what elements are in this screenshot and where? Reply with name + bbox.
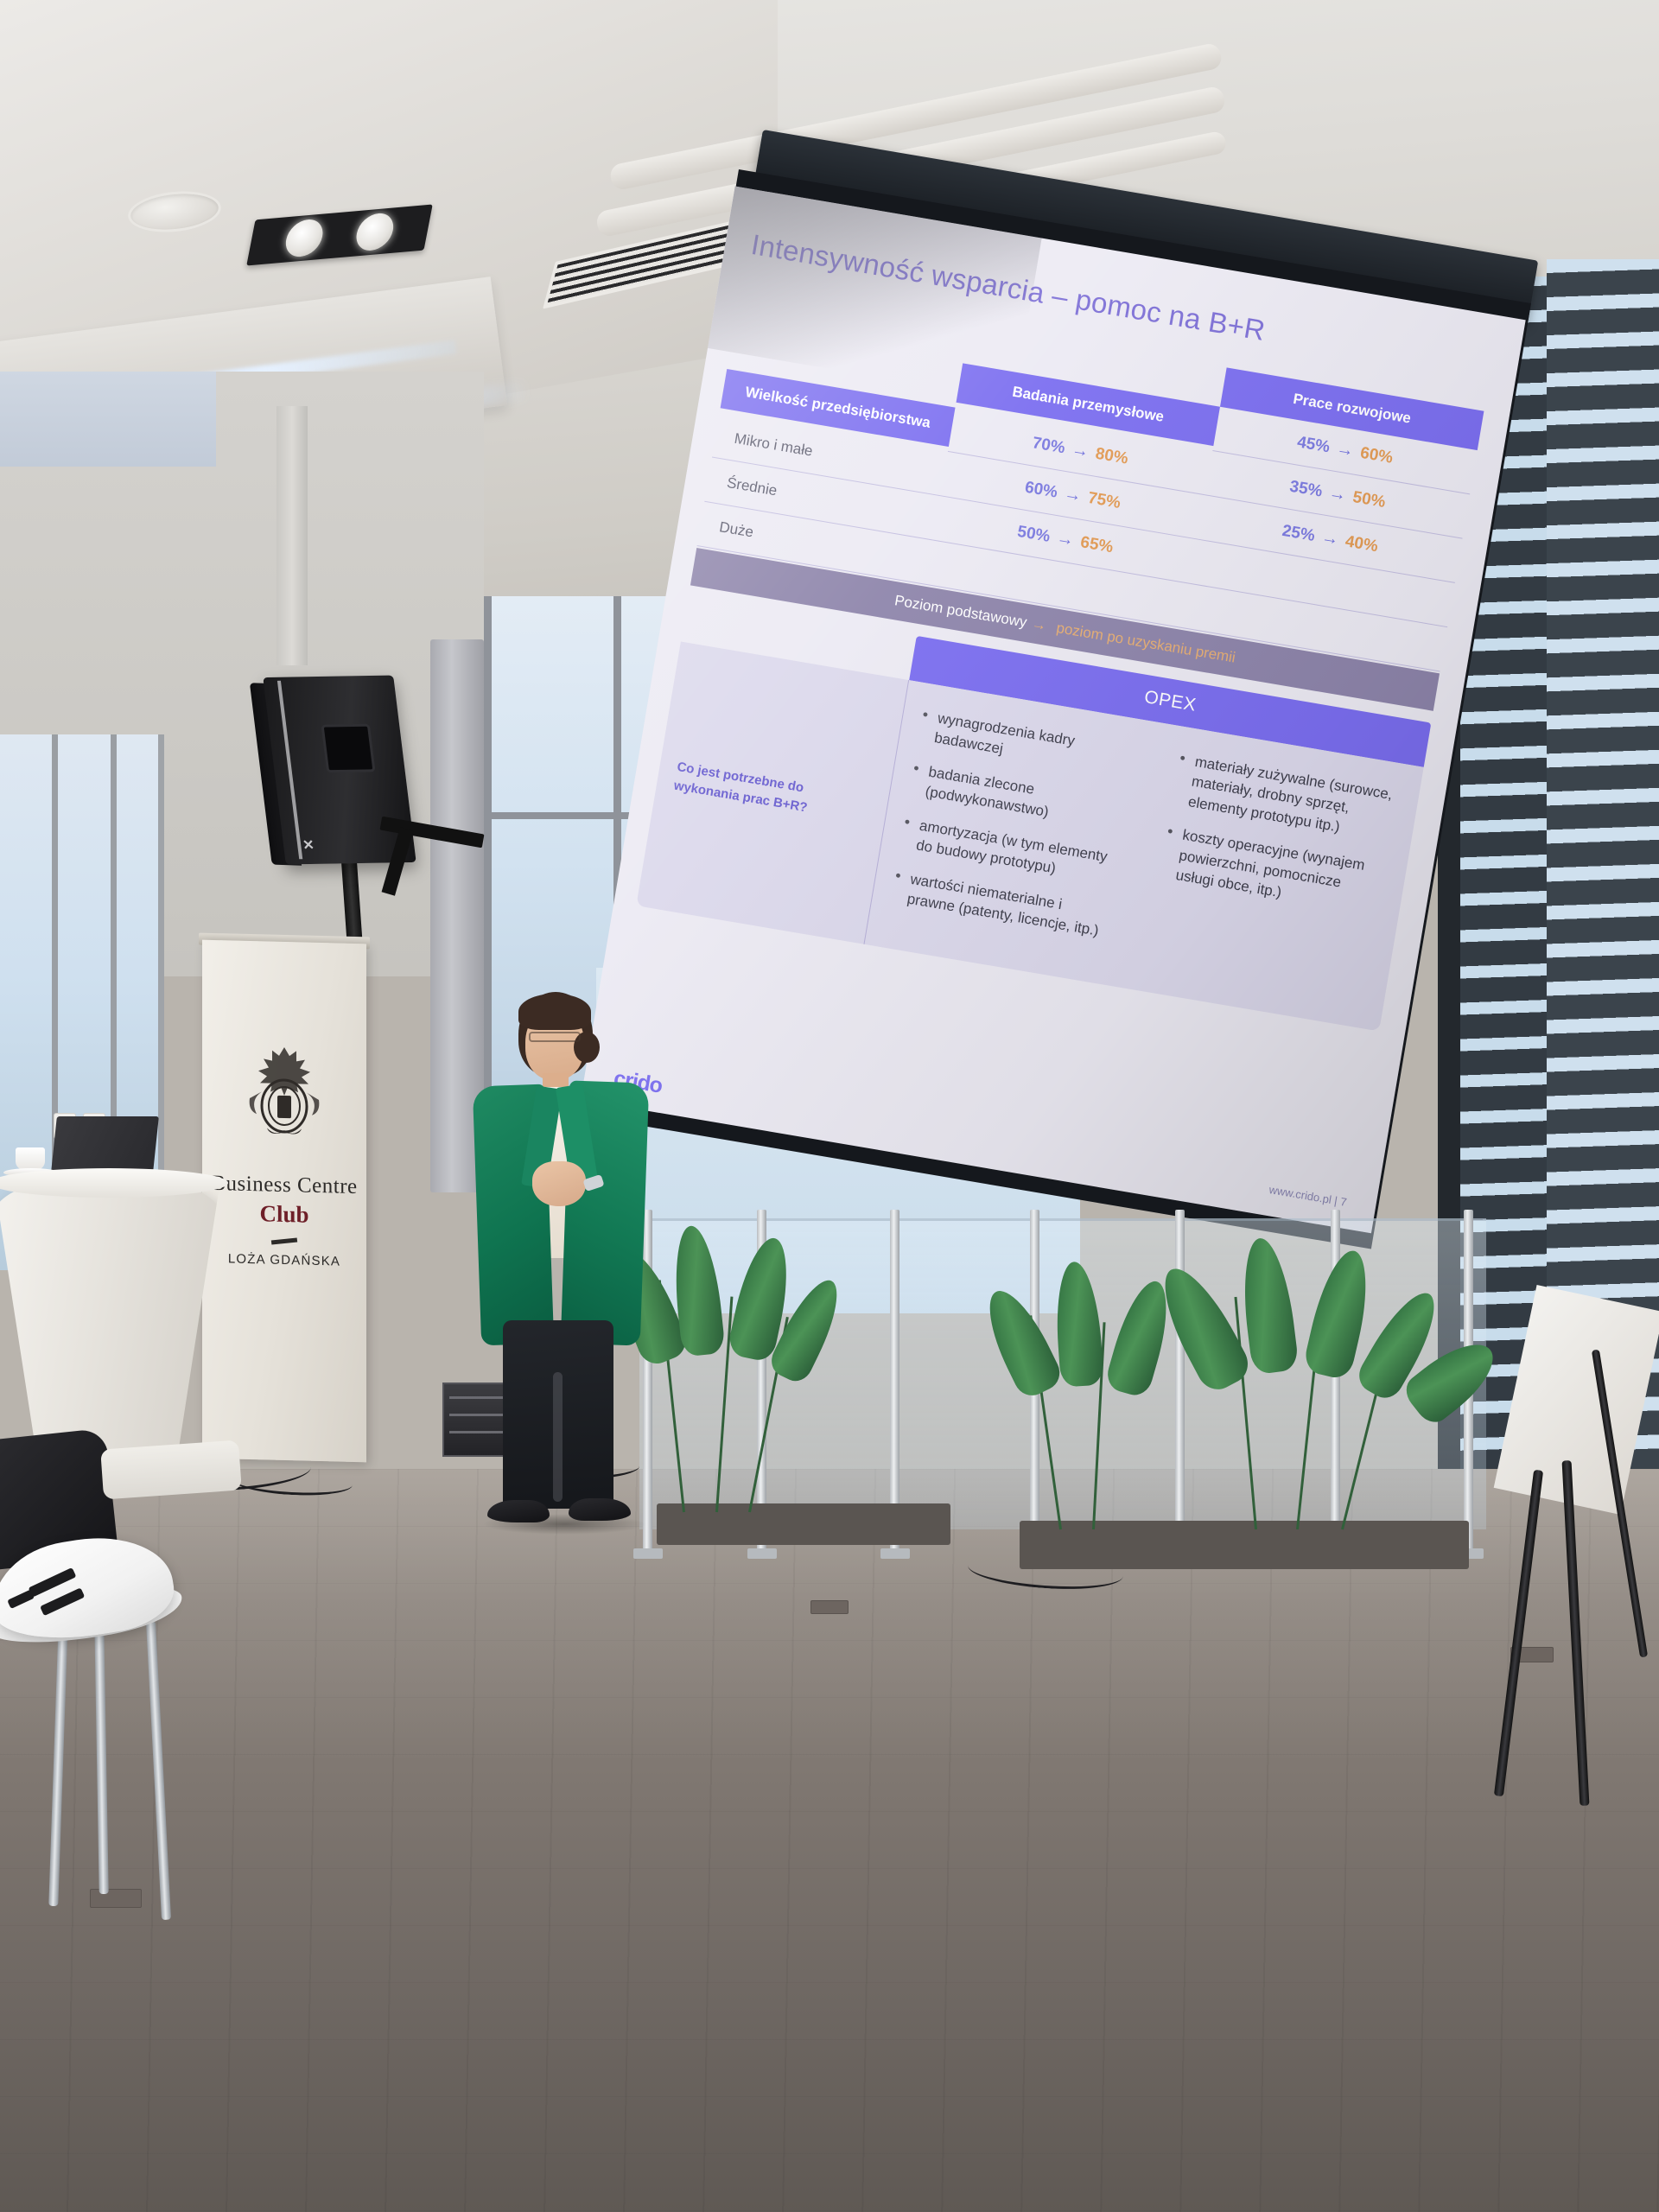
arrow-icon-ind-1: → xyxy=(1063,484,1084,506)
screen-border: Intensywność wsparcia – pomoc na B+R Pra… xyxy=(579,169,1531,1249)
sneaker-stripe-2 xyxy=(40,1587,85,1616)
presenter-leg-gap xyxy=(553,1372,563,1502)
cocktail-table xyxy=(0,1175,221,1469)
white-cushion xyxy=(100,1440,242,1499)
presenter-hands xyxy=(532,1161,586,1206)
opex-column-left: wynagrodzenia kadry badawczej badania zl… xyxy=(864,680,1166,988)
presenter-shoe-left xyxy=(487,1500,550,1522)
ind-boost-row1: 75% xyxy=(1086,488,1122,512)
ind-boost-row0: 80% xyxy=(1094,444,1129,468)
arrow-icon-dev-0: → xyxy=(1335,439,1356,461)
dev-base-row0: 45% xyxy=(1296,433,1332,457)
floor-socket-2 xyxy=(810,1600,849,1614)
dev-boost-row1: 50% xyxy=(1351,487,1387,512)
pa-speaker-icon: ✕ xyxy=(263,675,416,864)
floor-socket-1 xyxy=(90,1889,142,1908)
sneaker-stripe-3 xyxy=(7,1589,35,1609)
slide-page-number: 7 xyxy=(1339,1195,1348,1209)
footer-url: www.crido.pl xyxy=(1268,1183,1332,1206)
coat-of-arms-crest-icon xyxy=(243,1043,326,1147)
arrow-icon-dev-2: → xyxy=(1319,528,1340,550)
arrow-icon-dev-1: → xyxy=(1327,483,1348,505)
railing-post xyxy=(1175,1210,1185,1555)
opex-body: Co jest potrzebne do wykonania prac B+R?… xyxy=(636,641,1423,1031)
coffee-cup xyxy=(16,1147,45,1170)
presenter-glasses-icon xyxy=(529,1032,581,1042)
opex-question-label: Co jest potrzebne do wykonania prac B+R? xyxy=(636,641,909,944)
ind-base-row2: 50% xyxy=(1016,522,1052,546)
spot-lamp-left xyxy=(283,218,326,258)
presenter xyxy=(442,992,667,1545)
spot-lamp-right xyxy=(353,212,397,252)
conference-room-photo: ✕ Intensywność wsparcia – pomoc na B+R P… xyxy=(0,0,1659,2212)
presenter-hair-top xyxy=(518,994,591,1030)
banner-divider-dash xyxy=(271,1238,297,1245)
roll-up-banner: Business Centre Club LOŻA GDAŃSKA xyxy=(202,940,366,1463)
ind-base-row1: 60% xyxy=(1023,478,1058,502)
dev-boost-row2: 40% xyxy=(1344,532,1379,556)
ind-base-row0: 70% xyxy=(1031,434,1066,458)
opex-column-right: materiały zużywalne (surowce, materiały,… xyxy=(1122,724,1423,1032)
pa-speaker-handle xyxy=(321,724,375,773)
footer-separator: | xyxy=(1333,1194,1338,1207)
arrow-icon-ind-2: → xyxy=(1055,529,1076,551)
legend-arrow-icon: → xyxy=(1030,615,1047,635)
dev-base-row1: 35% xyxy=(1288,477,1324,501)
planter-box-left xyxy=(657,1503,950,1545)
floor xyxy=(0,1469,1659,2212)
presentation-slide: Intensywność wsparcia – pomoc na B+R Pra… xyxy=(581,187,1526,1234)
ind-boost-row2: 65% xyxy=(1079,533,1115,557)
arrow-icon-ind-0: → xyxy=(1070,440,1090,462)
banner-line-2: Club xyxy=(202,1199,366,1230)
cocktail-table-top xyxy=(0,1168,228,1198)
banner-line-3: LOŻA GDAŃSKA xyxy=(202,1251,366,1270)
support-intensity-table: Prace rozwojowe Badania przemysłowe 45% … xyxy=(636,285,1484,1031)
projection-screen: Intensywność wsparcia – pomoc na B+R Pra… xyxy=(747,130,1560,1227)
dev-boost-row0: 60% xyxy=(1359,443,1395,467)
upper-wall-panel xyxy=(0,372,216,467)
presenter-shoe-right xyxy=(569,1498,631,1521)
banner-line-1: Business Centre xyxy=(202,1172,366,1200)
pa-speaker-logo: ✕ xyxy=(302,836,315,854)
wall-pilaster xyxy=(276,406,308,665)
dev-base-row2: 25% xyxy=(1281,521,1316,545)
slide-footer-right: www.crido.pl | 7 xyxy=(1268,1183,1348,1209)
